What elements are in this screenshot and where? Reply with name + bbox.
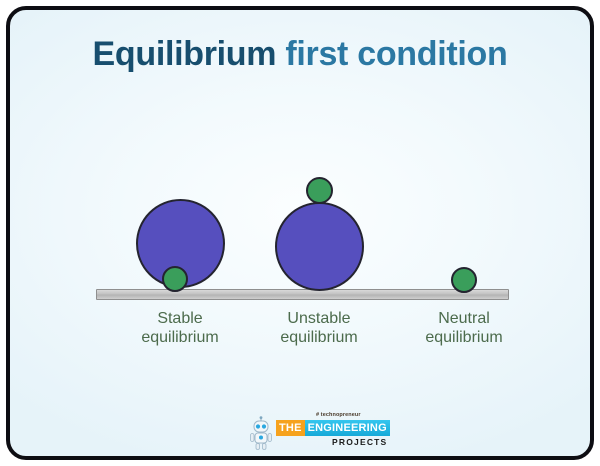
label-unstable-equilibrium: Unstable equilibrium — [254, 309, 384, 347]
label-neutral-line2: equilibrium — [399, 328, 529, 347]
logo-badge-the: THE — [276, 420, 305, 436]
logo-badge-engineering: ENGINEERING — [305, 420, 390, 436]
green-ball-unstable — [306, 177, 333, 204]
logo-word-projects: PROJECTS — [332, 437, 387, 447]
logo-badges: THE ENGINEERING — [276, 420, 390, 436]
slide-frame: Equilibrium first condition Stable equil… — [6, 6, 594, 460]
label-stable-line2: equilibrium — [115, 328, 245, 347]
site-logo: # technopreneur THE ENGINEERING PROJECTS — [248, 412, 378, 454]
label-unstable-line2: equilibrium — [254, 328, 384, 347]
equilibrium-diagram: Stable equilibrium Unstable equilibrium … — [10, 10, 594, 460]
green-ball-stable — [162, 266, 188, 292]
sphere-unstable — [275, 202, 364, 291]
label-unstable-line1: Unstable — [287, 310, 350, 327]
label-neutral-line1: Neutral — [438, 310, 490, 327]
logo-tagline: # technopreneur — [316, 412, 361, 418]
horizontal-surface-bar — [96, 289, 509, 300]
green-ball-neutral — [451, 267, 477, 293]
label-stable-line1: Stable — [157, 310, 202, 327]
label-stable-equilibrium: Stable equilibrium — [115, 309, 245, 347]
slide-canvas: Equilibrium first condition Stable equil… — [0, 0, 600, 466]
label-neutral-equilibrium: Neutral equilibrium — [399, 309, 529, 347]
robot-mascot-icon — [248, 416, 274, 450]
